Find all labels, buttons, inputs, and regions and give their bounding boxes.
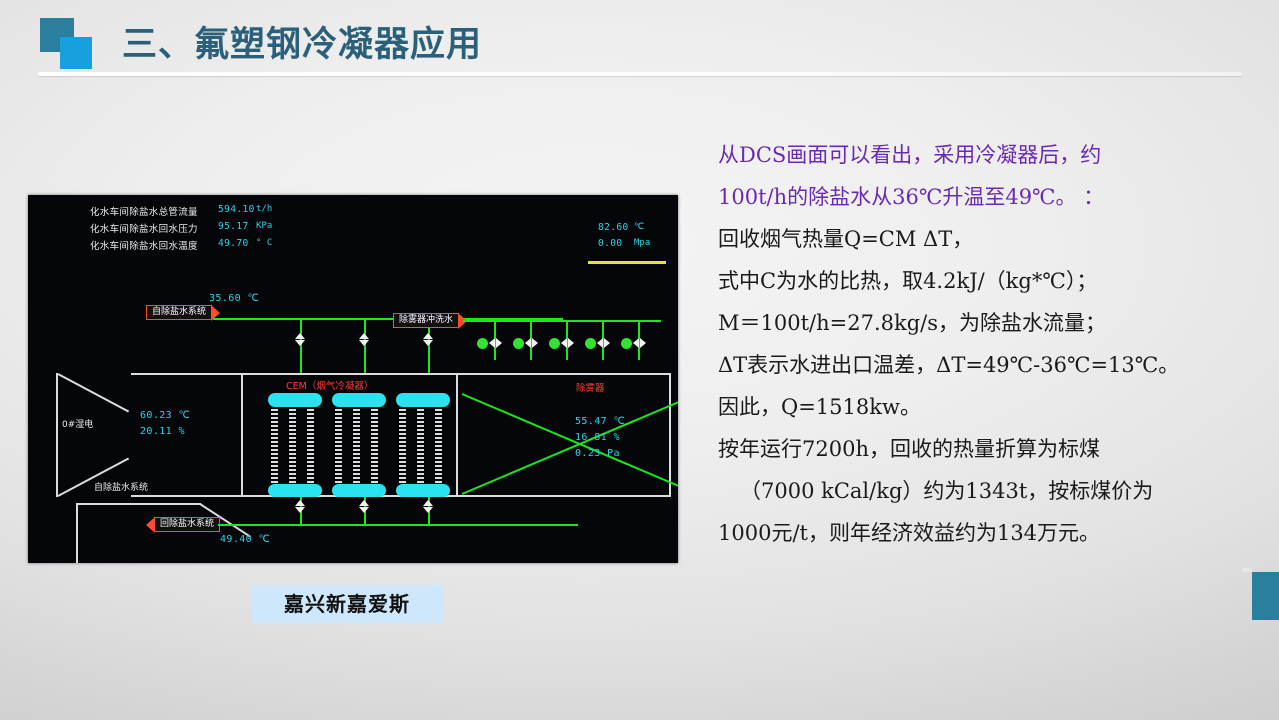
dcs-tube-col-2a [335, 409, 342, 484]
dcs-pipe-return-header [218, 524, 578, 526]
edge-accent-tick [1242, 568, 1252, 572]
dcs-valve-supply-2 [359, 333, 370, 346]
header-square-light-icon [60, 37, 92, 69]
body-text-block: 从DCS画面可以看出，采用冷凝器后，约 100t/h的除盐水从36℃升温至49℃… [718, 134, 1258, 554]
dcs-tube-header-1 [268, 393, 322, 407]
dcs-valve-demister-3 [561, 338, 574, 349]
dcs-tube-footer-1 [268, 484, 322, 497]
dcs-valve-demister-1 [489, 338, 502, 349]
dcs-duct-top [131, 373, 671, 375]
header-divider [38, 72, 1242, 76]
body-line-5: M＝100t/h=27.8kg/s，为除盐水流量； [718, 302, 1258, 344]
dcs-tube-col-1a [271, 409, 278, 484]
dcs-tube-col-1b [289, 409, 296, 484]
body-line-7: 因此，Q=1518kw。 [718, 386, 1258, 428]
dcs-tag-demister-wash: 除雾器冲洗水 [393, 313, 459, 328]
dcs-tube-col-2c [371, 409, 378, 484]
dcs-right-value-percent: 16.81 % [575, 432, 620, 443]
dcs-duct-inlet-face [56, 373, 58, 497]
dcs-tag-supply-water: 自除盐水系统 [146, 305, 212, 320]
body-line-6: ΔT表示水进出口温差，ΔT=49℃-36℃=13℃。 [718, 344, 1258, 386]
dcs-demister-x-1 [462, 393, 678, 492]
image-caption: 嘉兴新嘉爱斯 [251, 585, 443, 623]
dcs-trend-line [588, 261, 666, 264]
dcs-readout-value-flow: 594.10 [218, 204, 255, 215]
dcs-motor-icon-3 [549, 338, 560, 349]
dcs-duct-right-face [669, 373, 671, 497]
dcs-wesp-top-wall [76, 503, 201, 505]
dcs-tube-footer-2 [332, 484, 386, 497]
dcs-duct-divider-1 [241, 373, 243, 497]
dcs-motor-icon-2 [513, 338, 524, 349]
dcs-readout-unit-pressure: KPa [256, 221, 272, 231]
body-line-4: 式中C为水的比热，取4.2kJ/（kg*℃）； [718, 260, 1258, 302]
body-line-9: （7000 kCal/kg）约为1343t，按标煤价为 [718, 470, 1258, 512]
dcs-motor-icon-5 [621, 338, 632, 349]
dcs-pipe-demister-header [463, 320, 661, 322]
dcs-valve-return-2 [359, 500, 370, 513]
dcs-readout-unit-flow: t/h [256, 204, 272, 214]
dcs-valve-supply-3 [423, 333, 434, 346]
dcs-valve-return-1 [295, 500, 306, 513]
dcs-duct-inlet-top [58, 373, 130, 412]
body-line-1: 从DCS画面可以看出，采用冷凝器后，约 [718, 134, 1258, 176]
dcs-readout-value-pressure: 95.17 [218, 221, 249, 232]
dcs-demister-x-2 [462, 396, 678, 495]
dcs-readout-value-temperature: 49.70 [218, 238, 249, 249]
dcs-value-return-temp: 49.40 ℃ [220, 534, 270, 545]
dcs-valve-supply-1 [295, 333, 306, 346]
dcs-motor-icon-1 [477, 338, 488, 349]
dcs-left-value-percent: 20.11 % [140, 426, 185, 437]
dcs-label-supply-system-area: 自除盐水系统 [94, 480, 148, 493]
dcs-readout-label-temperature: 化水车间除盐水回水温度 [90, 238, 198, 252]
body-line-10: 1000元/t，则年经济效益约为134万元。 [718, 512, 1258, 554]
dcs-readout-unit-temperature: ° C [256, 238, 272, 248]
dcs-topright-value-2: 0.00 [598, 238, 622, 249]
dcs-valve-return-3 [423, 500, 434, 513]
dcs-readout-label-flow: 化水车间除盐水总管流量 [90, 204, 198, 218]
dcs-topright-unit-1: ℃ [634, 222, 644, 232]
dcs-valve-demister-4 [597, 338, 610, 349]
dcs-right-value-pressure: 0.23 Pa [575, 448, 620, 459]
edge-accent-bar [1252, 572, 1279, 620]
dcs-right-value-temp: 55.47 ℃ [575, 416, 625, 427]
dcs-tube-header-2 [332, 393, 386, 407]
dcs-tube-col-3b [417, 409, 424, 484]
dcs-tube-header-3 [396, 393, 450, 407]
slide-header: 三、氟塑钢冷凝器应用 [0, 0, 1279, 86]
dcs-tube-col-1c [307, 409, 314, 484]
dcs-label-demister: 除雾器 [576, 380, 605, 394]
dcs-tag-return-water: 回除盐水系统 [154, 517, 220, 532]
body-line-2: 100t/h的除盐水从36℃升温至49℃。 ： [718, 176, 1258, 218]
body-line-3: 回收烟气热量Q=CM ΔT， [718, 218, 1258, 260]
dcs-motor-icon-4 [585, 338, 596, 349]
dcs-valve-demister-5 [633, 338, 646, 349]
dcs-tube-col-2b [353, 409, 360, 484]
dcs-topright-value-1: 82.60 [598, 222, 629, 233]
dcs-label-condenser: CEM（烟气冷凝器） [286, 378, 373, 392]
dcs-tube-col-3c [435, 409, 442, 484]
dcs-value-supply-temp: 35.60 ℃ [209, 293, 259, 304]
dcs-label-wesp: 0#湿电 [62, 417, 93, 430]
dcs-valve-demister-2 [525, 338, 538, 349]
dcs-topright-unit-2: Mpa [634, 238, 650, 248]
dcs-tube-col-3a [399, 409, 406, 484]
dcs-screenshot-image: 化水车间除盐水总管流量 594.10 t/h 化水车间除盐水回水压力 95.17… [28, 195, 678, 563]
body-line-8: 按年运行7200h，回收的热量折算为标煤 [718, 428, 1258, 470]
dcs-duct-divider-2 [456, 373, 458, 497]
page-title: 三、氟塑钢冷凝器应用 [122, 16, 482, 67]
dcs-readout-label-pressure: 化水车间除盐水回水压力 [90, 221, 198, 235]
dcs-wesp-left-wall [76, 503, 78, 563]
dcs-tube-footer-3 [396, 484, 450, 497]
dcs-left-value-temp: 60.23 ℃ [140, 410, 190, 421]
